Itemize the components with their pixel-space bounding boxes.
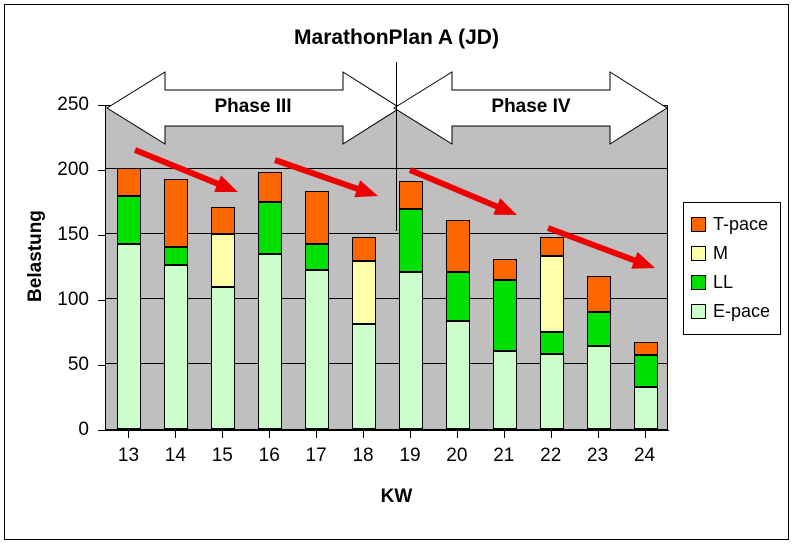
x-tick (363, 431, 364, 438)
x-tick-label: 19 (390, 446, 430, 465)
legend-item[interactable]: T-pace (691, 210, 774, 239)
bar-segment[interactable] (540, 237, 564, 257)
x-tick-label: 18 (343, 446, 383, 465)
bar-group[interactable] (540, 104, 564, 429)
y-axis-line (105, 105, 106, 431)
x-tick-label: 21 (484, 446, 524, 465)
legend-item-label: LL (713, 272, 733, 293)
x-tick-label: 22 (531, 446, 571, 465)
bar-segment[interactable] (540, 256, 564, 331)
bar-segment[interactable] (634, 387, 658, 429)
bar-segment[interactable] (305, 270, 329, 429)
bar-segment[interactable] (164, 179, 188, 247)
x-axis-line (105, 430, 669, 431)
bar-segment[interactable] (352, 324, 376, 429)
bar-group[interactable] (634, 104, 658, 429)
x-tick (457, 431, 458, 438)
legend-item-label: E-pace (713, 301, 770, 322)
phase-4-label: Phase IV (461, 96, 601, 118)
legend-swatch-icon (691, 304, 706, 319)
gridline (106, 233, 667, 234)
y-tick (98, 300, 105, 301)
bar-segment[interactable] (587, 276, 611, 312)
bar-group[interactable] (493, 104, 517, 429)
bar-segment[interactable] (352, 261, 376, 323)
bar-segment[interactable] (211, 287, 235, 429)
bar-segment[interactable] (117, 244, 141, 429)
bar-segment[interactable] (446, 272, 470, 321)
legend-item-label: M (713, 243, 728, 264)
y-tick (98, 235, 105, 236)
bar-group[interactable] (352, 104, 376, 429)
legend: T-paceMLLE-pace (683, 202, 781, 335)
x-tick (269, 431, 270, 438)
bar-segment[interactable] (258, 254, 282, 430)
x-tick (504, 431, 505, 438)
y-tick (98, 430, 105, 431)
bar-segment[interactable] (211, 234, 235, 287)
bar-segment[interactable] (446, 321, 470, 429)
x-tick-label: 23 (578, 446, 618, 465)
legend-item-label: T-pace (713, 214, 768, 235)
legend-swatch-icon (691, 275, 706, 290)
x-tick (316, 431, 317, 438)
legend-swatch-icon (691, 246, 706, 261)
y-tick (98, 170, 105, 171)
bar-segment[interactable] (352, 237, 376, 262)
x-tick-label: 20 (437, 446, 477, 465)
x-tick (222, 431, 223, 438)
legend-item[interactable]: E-pace (691, 297, 774, 326)
x-tick (645, 431, 646, 438)
legend-swatch-icon (691, 217, 706, 232)
bar-segment[interactable] (634, 355, 658, 388)
y-tick-label: 50 (29, 355, 89, 374)
bar-segment[interactable] (164, 247, 188, 265)
x-tick-label: 15 (202, 446, 242, 465)
bar-group[interactable] (399, 104, 423, 429)
legend-item[interactable]: M (691, 239, 774, 268)
bar-segment[interactable] (634, 342, 658, 355)
bar-group[interactable] (117, 104, 141, 429)
x-tick-label: 17 (296, 446, 336, 465)
x-tick (175, 431, 176, 438)
bar-group[interactable] (211, 104, 235, 429)
bar-segment[interactable] (305, 244, 329, 270)
bar-segment[interactable] (211, 207, 235, 234)
bar-segment[interactable] (540, 354, 564, 429)
gridline (106, 363, 667, 364)
bar-group[interactable] (305, 104, 329, 429)
bar-segment[interactable] (399, 209, 423, 271)
phase-3-label: Phase III (183, 96, 323, 118)
bar-segment[interactable] (258, 202, 282, 254)
chart-container: MarathonPlan A (JD) 050100150200250 1314… (0, 0, 793, 544)
legend-item[interactable]: LL (691, 268, 774, 297)
bar-segment[interactable] (117, 196, 141, 244)
x-axis-title: KW (0, 486, 793, 508)
chart-title: MarathonPlan A (JD) (0, 26, 793, 50)
x-tick (410, 431, 411, 438)
y-tick-label: 200 (29, 160, 89, 179)
x-tick (598, 431, 599, 438)
bar-segment[interactable] (493, 280, 517, 352)
bar-group[interactable] (446, 104, 470, 429)
x-tick-label: 13 (108, 446, 148, 465)
bar-segment[interactable] (117, 168, 141, 197)
bar-segment[interactable] (399, 272, 423, 429)
x-tick-label: 14 (155, 446, 195, 465)
bar-segment[interactable] (258, 172, 282, 202)
bar-group[interactable] (164, 104, 188, 429)
plot-area (105, 105, 668, 430)
bar-segment[interactable] (540, 332, 564, 354)
bar-segment[interactable] (493, 259, 517, 280)
x-tick (551, 431, 552, 438)
gridline (106, 298, 667, 299)
y-tick-label: 250 (29, 95, 89, 114)
bar-segment[interactable] (446, 220, 470, 272)
x-tick (128, 431, 129, 438)
y-axis-title: Belastung (25, 196, 47, 316)
bar-segment[interactable] (399, 181, 423, 210)
x-tick-label: 24 (625, 446, 665, 465)
bar-segment[interactable] (305, 191, 329, 244)
y-tick (98, 105, 105, 106)
gridline (106, 168, 667, 169)
bar-segment[interactable] (164, 265, 188, 429)
bar-group[interactable] (258, 104, 282, 429)
bar-segment[interactable] (587, 346, 611, 429)
y-tick (98, 365, 105, 366)
bar-group[interactable] (587, 104, 611, 429)
bar-segment[interactable] (587, 312, 611, 346)
bar-segment[interactable] (493, 351, 517, 429)
x-tick-label: 16 (249, 446, 289, 465)
phase-divider-line (396, 62, 397, 231)
y-tick-label: 0 (29, 420, 89, 439)
